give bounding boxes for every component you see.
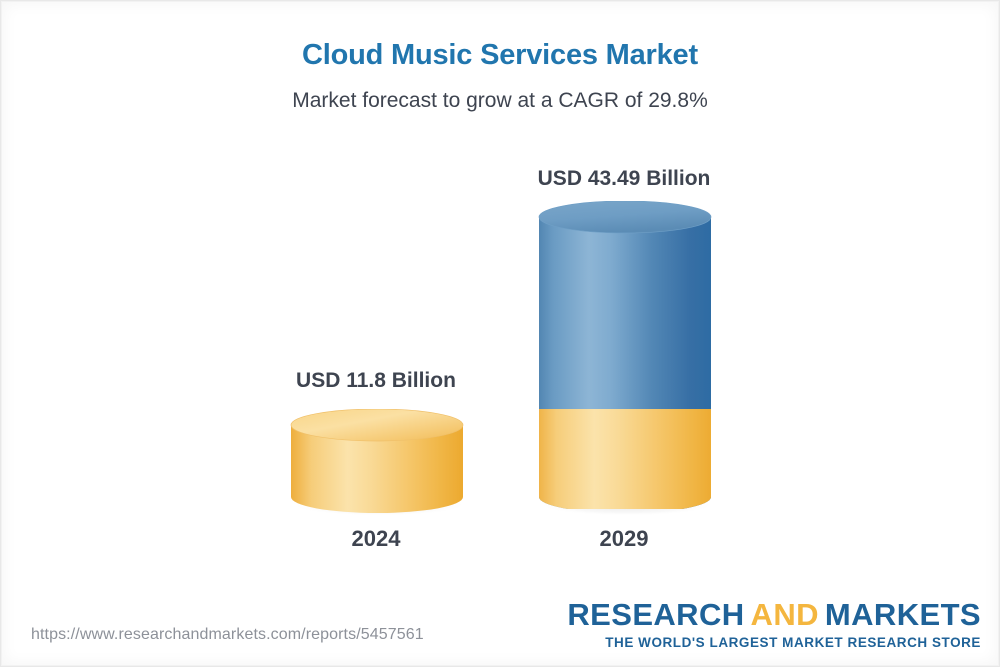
bar-cylinder-2024 xyxy=(287,409,467,517)
source-url-link[interactable]: https://www.researchandmarkets.com/repor… xyxy=(31,626,424,644)
infographic-canvas: Cloud Music Services Market Market forec… xyxy=(0,0,1000,667)
brand-tagline: THE WORLD'S LARGEST MARKET RESEARCH STOR… xyxy=(567,635,981,650)
brand-word-markets: MARKETS xyxy=(825,597,981,632)
bar-category-label-2029: 2029 xyxy=(479,526,769,552)
brand-logo: RESEARCHANDMARKETS THE WORLD'S LARGEST M… xyxy=(567,599,981,650)
bar-value-label-2024: USD 11.8 Billion xyxy=(231,369,521,393)
brand-wordmark: RESEARCHANDMARKETS xyxy=(567,599,981,632)
brand-word-and: AND xyxy=(751,597,819,632)
chart-subtitle: Market forecast to grow at a CAGR of 29.… xyxy=(1,89,999,113)
chart-plot-area: USD 11.8 Billion xyxy=(1,141,1000,581)
bar-cylinder-2029 xyxy=(535,201,715,517)
chart-title: Cloud Music Services Market xyxy=(1,39,999,72)
brand-word-research: RESEARCH xyxy=(567,597,744,632)
bar-value-label-2029: USD 43.49 Billion xyxy=(479,167,769,191)
bar-category-label-2024: 2024 xyxy=(231,526,521,552)
